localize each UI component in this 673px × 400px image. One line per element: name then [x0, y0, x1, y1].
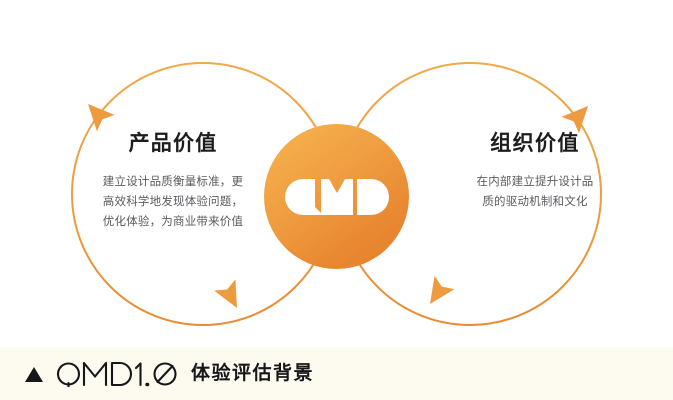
lobe-organization-value: 组织价值 在内部建立提升设计品 质的驱动机制和文化 [430, 131, 640, 212]
slide-canvas: 产品价值 建立设计品质衡量标准，更 高效科学地发现体验问题， 优化体验，为商业带… [0, 0, 673, 400]
qmd-center-badge [264, 124, 409, 269]
left-cycle-bottom-arrow [214, 279, 247, 313]
footer-band: 体验评估背景 [0, 347, 673, 400]
body-line: 高效科学地发现体验问题， [68, 192, 278, 212]
triangle-up-icon [25, 367, 43, 382]
venn-diagram: 产品价值 建立设计品质衡量标准，更 高效科学地发现体验问题， 优化体验，为商业带… [0, 0, 673, 347]
right-cycle-top-arrow [561, 98, 596, 133]
body-line: 优化体验，为商业带来价值 [68, 212, 278, 232]
lobe-organization-value-body: 在内部建立提升设计品 质的驱动机制和文化 [430, 172, 640, 212]
body-line: 建立设计品质衡量标准，更 [68, 172, 278, 192]
qmd-wordmark-icon [285, 179, 389, 215]
lobe-product-value: 产品价值 建立设计品质衡量标准，更 高效科学地发现体验问题， 优化体验，为商业带… [68, 131, 278, 233]
lobe-product-value-title: 产品价值 [68, 131, 278, 156]
body-line: 质的驱动机制和文化 [430, 192, 640, 212]
qmd-version-logotype [56, 361, 180, 387]
body-line: 在内部建立提升设计品 [430, 172, 640, 192]
footer-section-title: 体验评估背景 [191, 364, 314, 383]
footer-content: 体验评估背景 [25, 361, 314, 387]
lobe-product-value-body: 建立设计品质衡量标准，更 高效科学地发现体验问题， 优化体验，为商业带来价值 [68, 172, 278, 232]
lobe-organization-value-title: 组织价值 [430, 131, 640, 156]
right-cycle-bottom-arrow [420, 276, 454, 311]
